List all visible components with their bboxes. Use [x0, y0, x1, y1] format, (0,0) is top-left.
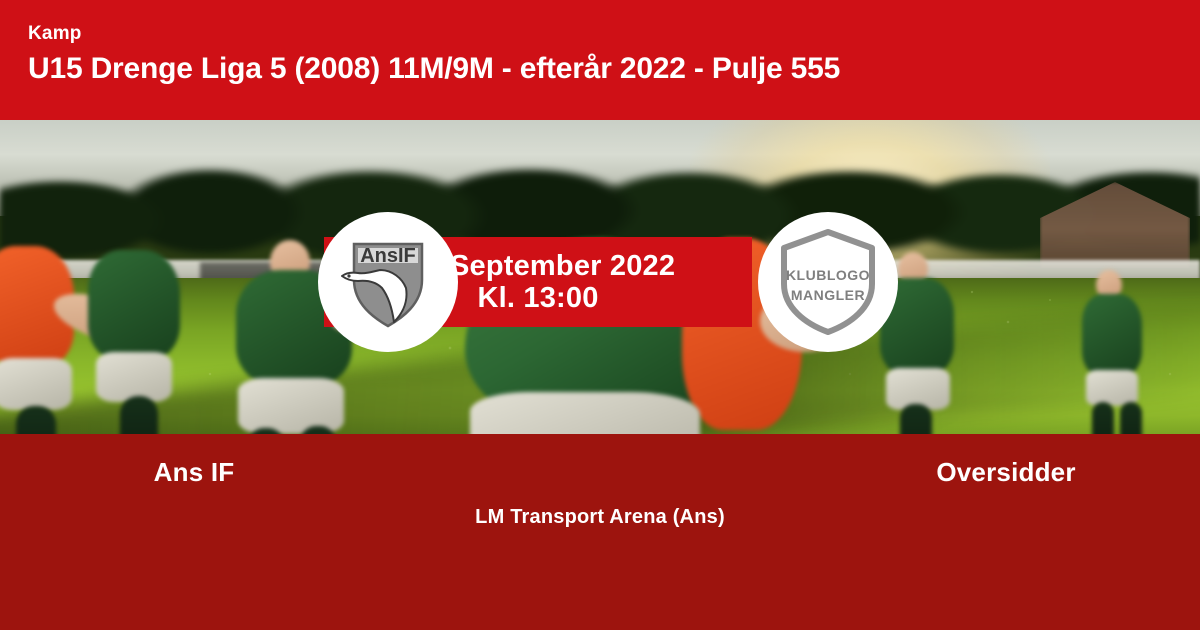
- ans-if-wordmark: AnsIF: [360, 245, 416, 267]
- photo-player: [238, 378, 344, 434]
- missing-logo-line2: MANGLER: [791, 287, 865, 303]
- away-team-name: Oversidder: [600, 450, 1200, 494]
- photo-player: [16, 406, 56, 434]
- match-time: Kl. 13:00: [477, 282, 598, 314]
- ans-if-crest-icon: AnsIF: [336, 230, 440, 334]
- home-team-crest: AnsIF: [318, 212, 458, 352]
- photo-player: [1082, 294, 1142, 376]
- header-kicker: Kamp: [28, 24, 82, 43]
- away-team-crest-placeholder: KLUBLOGO MANGLER: [758, 212, 898, 352]
- photo-player: [1086, 370, 1138, 406]
- photo-player: [88, 250, 180, 360]
- photo-player: [900, 404, 932, 434]
- page-title: U15 Drenge Liga 5 (2008) 11M/9M - efterå…: [28, 52, 840, 85]
- match-poster: Kamp U15 Drenge Liga 5 (2008) 11M/9M - e…: [0, 0, 1200, 630]
- photo-player: [1120, 402, 1142, 434]
- poster-footer-panel: Ans IF Oversidder LM Transport Arena (An…: [0, 434, 1200, 630]
- match-venue: LM Transport Arena (Ans): [0, 506, 1200, 529]
- missing-club-logo-shield-icon: KLUBLOGO MANGLER: [774, 226, 882, 338]
- missing-logo-line1: KLUBLOGO: [786, 267, 870, 283]
- photo-player-foreground: [470, 392, 700, 434]
- photo-player: [1092, 402, 1114, 434]
- photo-player: [120, 396, 158, 434]
- photo-player: [96, 352, 172, 402]
- home-team-name: Ans IF: [0, 450, 600, 494]
- poster-header: Kamp U15 Drenge Liga 5 (2008) 11M/9M - e…: [0, 0, 1200, 120]
- photo-player: [0, 358, 72, 410]
- team-names-row: Ans IF Oversidder: [0, 450, 1200, 494]
